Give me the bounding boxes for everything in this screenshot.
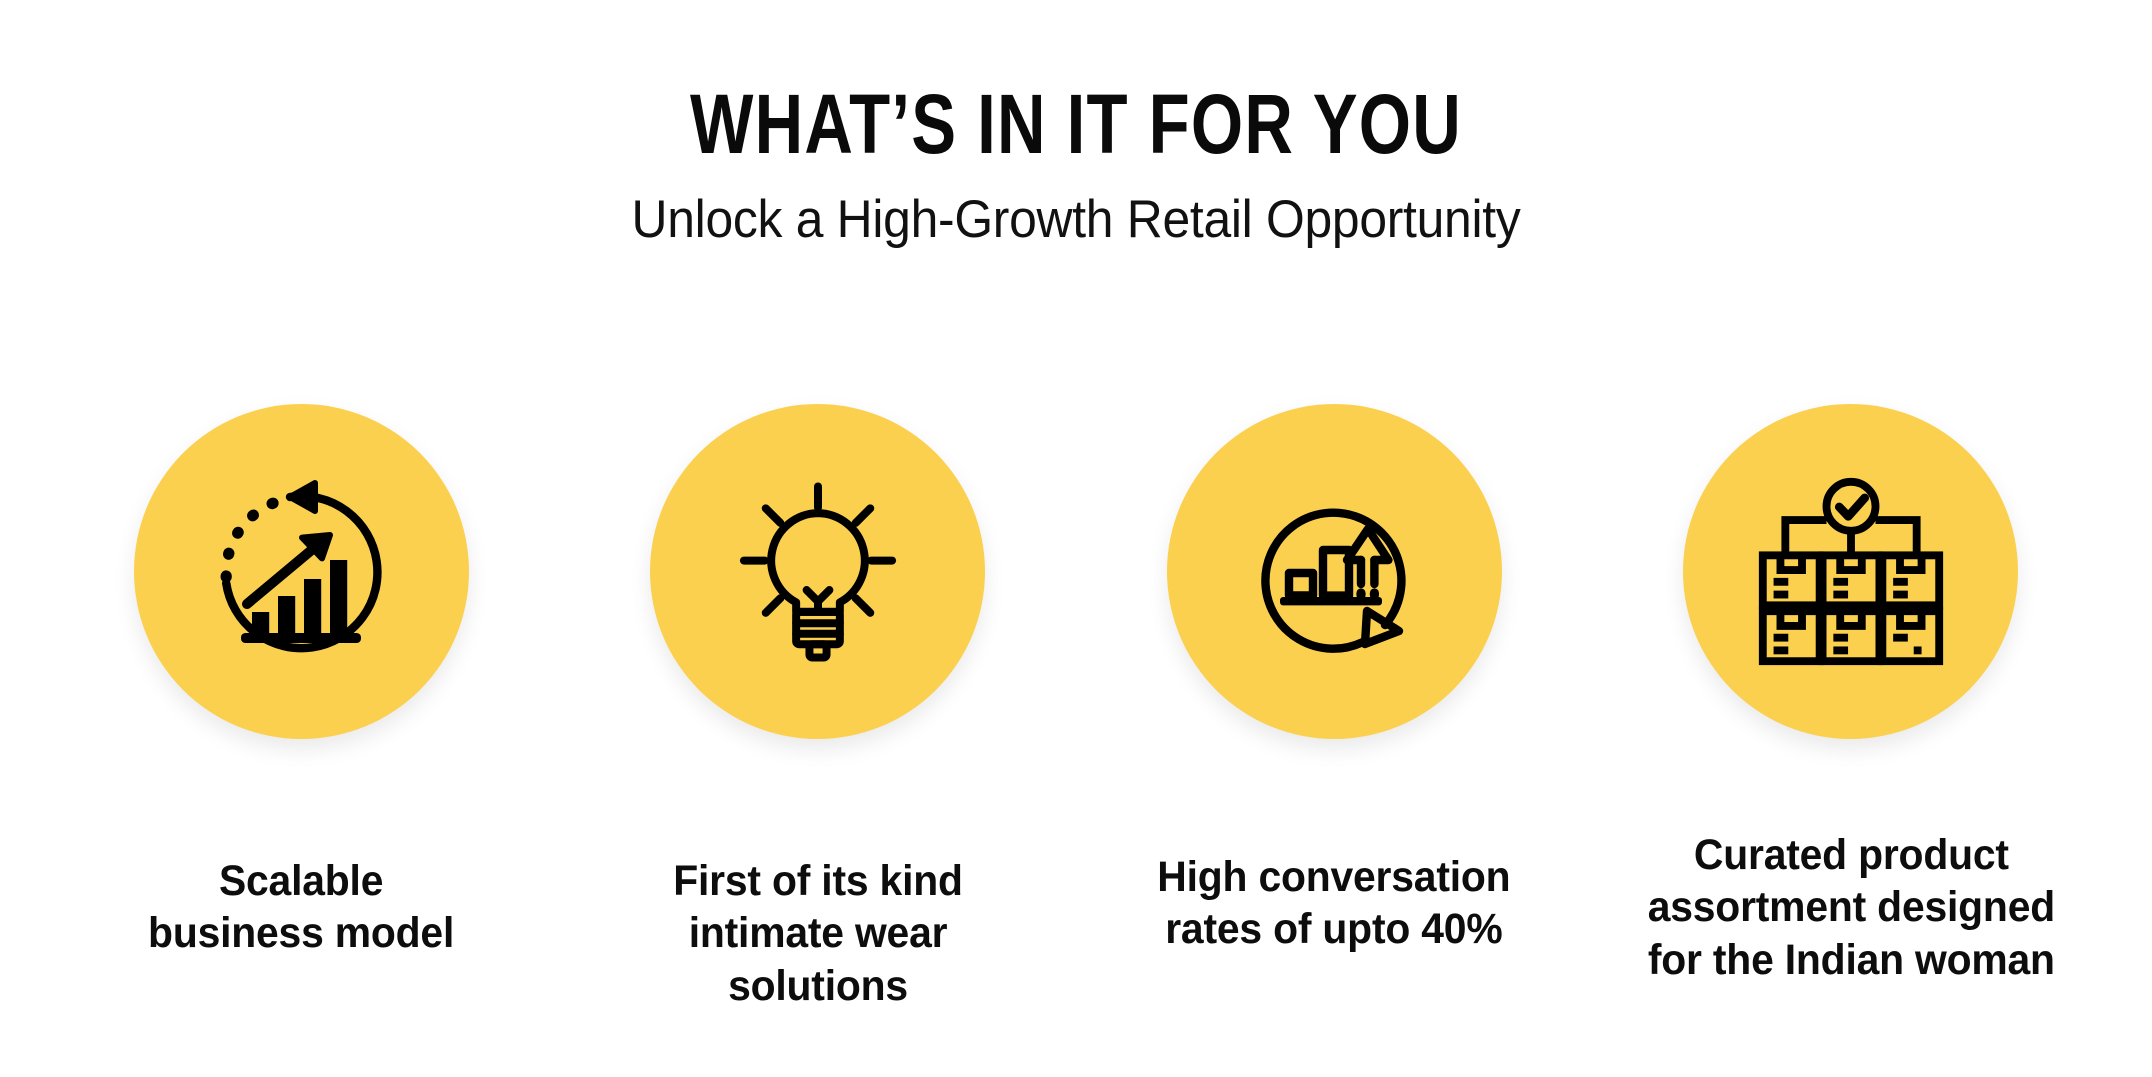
page-subtitle: Unlock a High-Growth Retail Opportunity — [65, 165, 2088, 249]
icon-badge — [650, 404, 985, 739]
conversion-rate-cycle-icon — [1234, 472, 1434, 672]
benefit-card-high-conversation-rates[interactable]: High conversation rates of upto 40% — [1105, 404, 1563, 956]
benefit-card-first-of-its-kind[interactable]: First of its kind intimate wear solution… — [589, 404, 1047, 1012]
benefits-row: Scalable business model — [0, 404, 2152, 1012]
benefit-card-curated-product-assortment[interactable]: Curated product assortment designed for … — [1622, 404, 2080, 986]
icon-badge — [1683, 404, 2018, 739]
benefit-caption: First of its kind intimate wear solution… — [600, 855, 1035, 1012]
curated-product-boxes-check-icon — [1753, 474, 1949, 670]
page-title: WHAT’S IN IT FOR YOU — [215, 84, 1937, 165]
slide-root: WHAT’S IN IT FOR YOU Unlock a High-Growt… — [0, 0, 2152, 1077]
growth-chart-cycle-icon — [201, 472, 401, 672]
benefit-caption: Scalable business model — [148, 855, 454, 960]
benefit-caption: Curated product assortment designed for … — [1647, 829, 2054, 986]
icon-badge — [1167, 404, 1502, 739]
benefit-caption: High conversation rates of upto 40% — [1158, 851, 1511, 956]
header: WHAT’S IN IT FOR YOU Unlock a High-Growt… — [0, 0, 2152, 249]
icon-badge — [134, 404, 469, 739]
lightbulb-idea-icon — [723, 477, 913, 667]
benefit-card-scalable-business-model[interactable]: Scalable business model — [72, 404, 530, 960]
